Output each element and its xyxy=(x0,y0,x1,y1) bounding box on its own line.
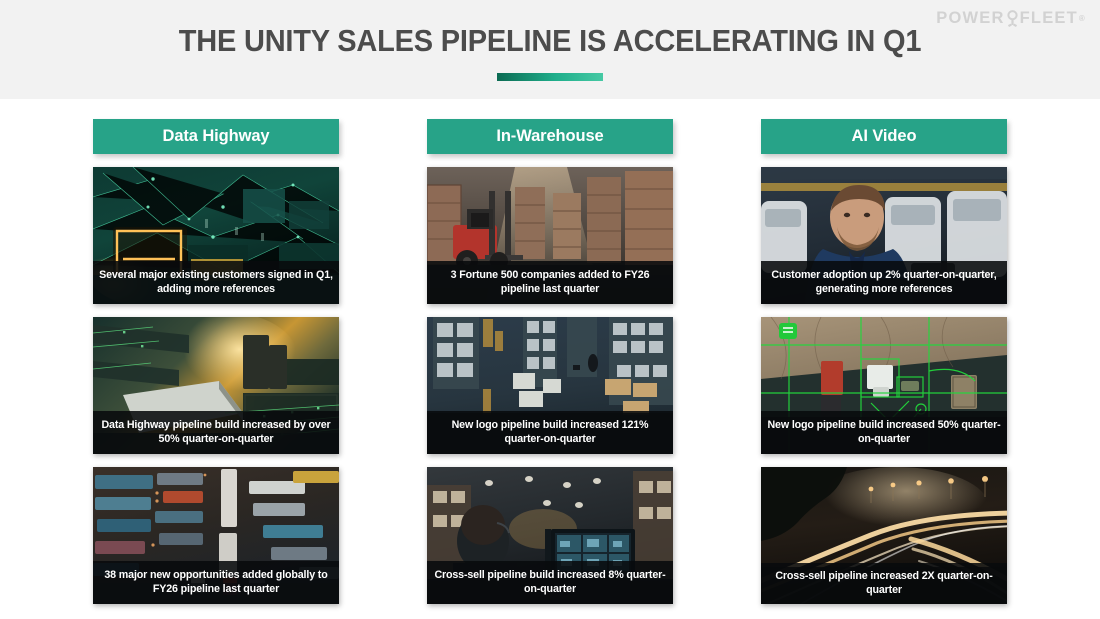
columns-container: Data Highway xyxy=(0,99,1100,619)
column-data-highway: Data Highway xyxy=(93,119,339,619)
card-av-2[interactable]: New logo pipeline build increased 50% qu… xyxy=(761,317,1007,454)
card-caption-iw-3: Cross-sell pipeline build increased 8% q… xyxy=(427,561,673,604)
slide-root: POWER FLEET ® THE UNITY SALES PIPELINE I… xyxy=(0,0,1100,619)
logo-registered-mark: ® xyxy=(1079,14,1086,23)
card-caption-av-2: New logo pipeline build increased 50% qu… xyxy=(761,411,1007,454)
card-iw-2[interactable]: New logo pipeline build increased 121% q… xyxy=(427,317,673,454)
page-title: THE UNITY SALES PIPELINE IS ACCELERATING… xyxy=(28,24,1073,59)
card-caption-iw-2: New logo pipeline build increased 121% q… xyxy=(427,411,673,454)
card-caption-iw-1: 3 Fortune 500 companies added to FY26 pi… xyxy=(427,261,673,304)
card-iw-1[interactable]: 3 Fortune 500 companies added to FY26 pi… xyxy=(427,167,673,304)
card-caption-dh-3: 38 major new opportunities added globall… xyxy=(93,561,339,604)
card-list-data-highway: Several major existing customers signed … xyxy=(93,167,339,604)
column-header-data-highway: Data Highway xyxy=(93,119,339,154)
card-caption-av-3: Cross-sell pipeline increased 2X quarter… xyxy=(761,563,1007,604)
column-header-in-warehouse: In-Warehouse xyxy=(427,119,673,154)
card-av-1[interactable]: Customer adoption up 2% quarter-on-quart… xyxy=(761,167,1007,304)
card-caption-dh-1: Several major existing customers signed … xyxy=(93,261,339,304)
column-ai-video: AI Video xyxy=(761,119,1007,619)
card-av-3[interactable]: Cross-sell pipeline increased 2X quarter… xyxy=(761,467,1007,604)
card-dh-2[interactable]: Data Highway pipeline build increased by… xyxy=(93,317,339,454)
card-dh-3[interactable]: 38 major new opportunities added globall… xyxy=(93,467,339,604)
card-list-ai-video: Customer adoption up 2% quarter-on-quart… xyxy=(761,167,1007,604)
card-caption-av-1: Customer adoption up 2% quarter-on-quart… xyxy=(761,261,1007,304)
title-accent-bar xyxy=(497,73,603,81)
column-in-warehouse: In-Warehouse xyxy=(427,119,673,619)
card-dh-1[interactable]: Several major existing customers signed … xyxy=(93,167,339,304)
slide-header: POWER FLEET ® THE UNITY SALES PIPELINE I… xyxy=(0,0,1100,99)
card-iw-3[interactable]: Cross-sell pipeline build increased 8% q… xyxy=(427,467,673,604)
card-list-in-warehouse: 3 Fortune 500 companies added to FY26 pi… xyxy=(427,167,673,604)
card-caption-dh-2: Data Highway pipeline build increased by… xyxy=(93,411,339,454)
column-header-ai-video: AI Video xyxy=(761,119,1007,154)
